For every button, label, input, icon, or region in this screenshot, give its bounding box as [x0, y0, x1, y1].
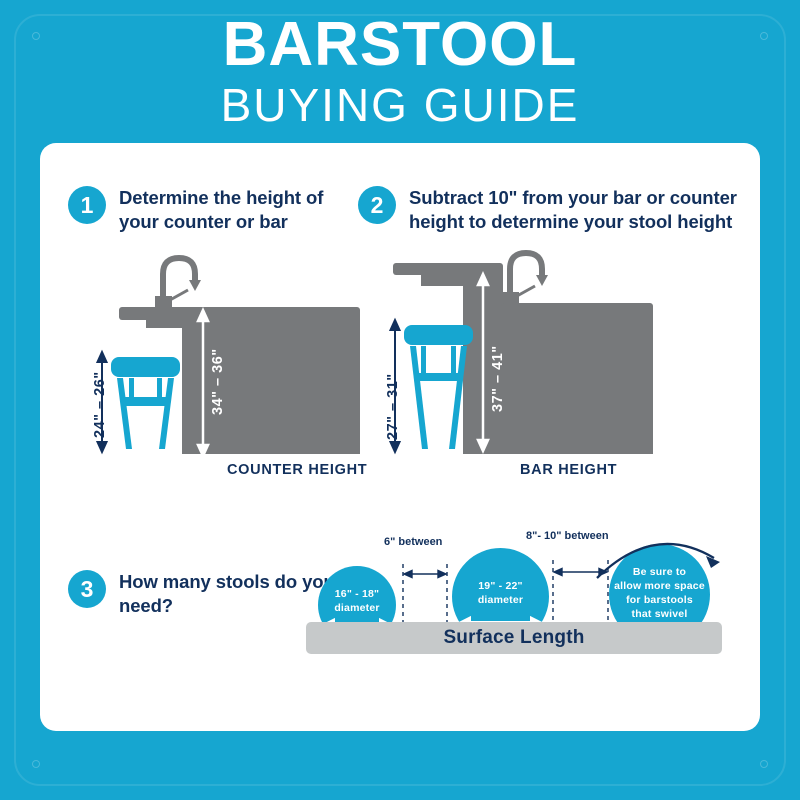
bar-surface-dimension-label: 37" – 41": [490, 345, 506, 412]
bar-diagram-svg: [393, 250, 693, 485]
counter-surface-dimension-label: 34" – 36": [210, 348, 226, 415]
step-3: 3 How many stools do you need?: [68, 570, 348, 617]
bar-height-diagram: 27" – 31" 37" – 41" BAR HEIGHT: [393, 250, 693, 485]
bar-height-caption: BAR HEIGHT: [520, 462, 617, 478]
gap-1-label: 6" between: [384, 536, 442, 548]
stool-spacing-diagram: 16" - 18" diameter 6" between: [318, 528, 718, 658]
page-subtitle: BUYING GUIDE: [0, 82, 800, 128]
step-1: 1 Determine the height of your counter o…: [68, 186, 368, 233]
swivel-note-line-4: that swivel: [609, 608, 710, 621]
counter-height-caption: COUNTER HEIGHT: [227, 462, 367, 478]
surface-length-label: Surface Length: [443, 627, 584, 649]
stool-icon: [404, 325, 473, 449]
step-3-label: How many stools do you need?: [119, 570, 348, 617]
step-1-label: Determine the height of your counter or …: [119, 186, 368, 233]
faucet-icon: [155, 258, 201, 312]
step-2-label: Subtract 10" from your bar or counter he…: [409, 186, 758, 233]
bar-stool-dimension-label: 27" – 31": [385, 373, 401, 440]
page-title: BARSTOOL: [0, 14, 800, 76]
rivet-bottom-right: [760, 760, 768, 768]
header: BARSTOOL BUYING GUIDE: [0, 14, 800, 128]
surface-length-bar: Surface Length: [306, 622, 722, 654]
step-2: 2 Subtract 10" from your bar or counter …: [358, 186, 758, 233]
step-1-badge: 1: [68, 186, 106, 224]
faucet-icon: [502, 253, 548, 308]
step-2-badge: 2: [358, 186, 396, 224]
swivel-arc-arrow: [594, 524, 730, 586]
counter-stool-dimension-label: 24" – 26": [92, 371, 108, 438]
swivel-note-line-3: for barstools: [609, 594, 710, 607]
counter-height-diagram: 24" – 26" 34" – 36" COUNTER HEIGHT: [100, 250, 390, 485]
barstool-buying-guide-infographic: BARSTOOL BUYING GUIDE 1 Determine the he…: [0, 0, 800, 800]
stool-icon: [111, 357, 180, 449]
counter-body: [119, 307, 360, 454]
counter-diagram-svg: [100, 250, 390, 485]
step-3-badge: 3: [68, 570, 106, 608]
rivet-bottom-left: [32, 760, 40, 768]
